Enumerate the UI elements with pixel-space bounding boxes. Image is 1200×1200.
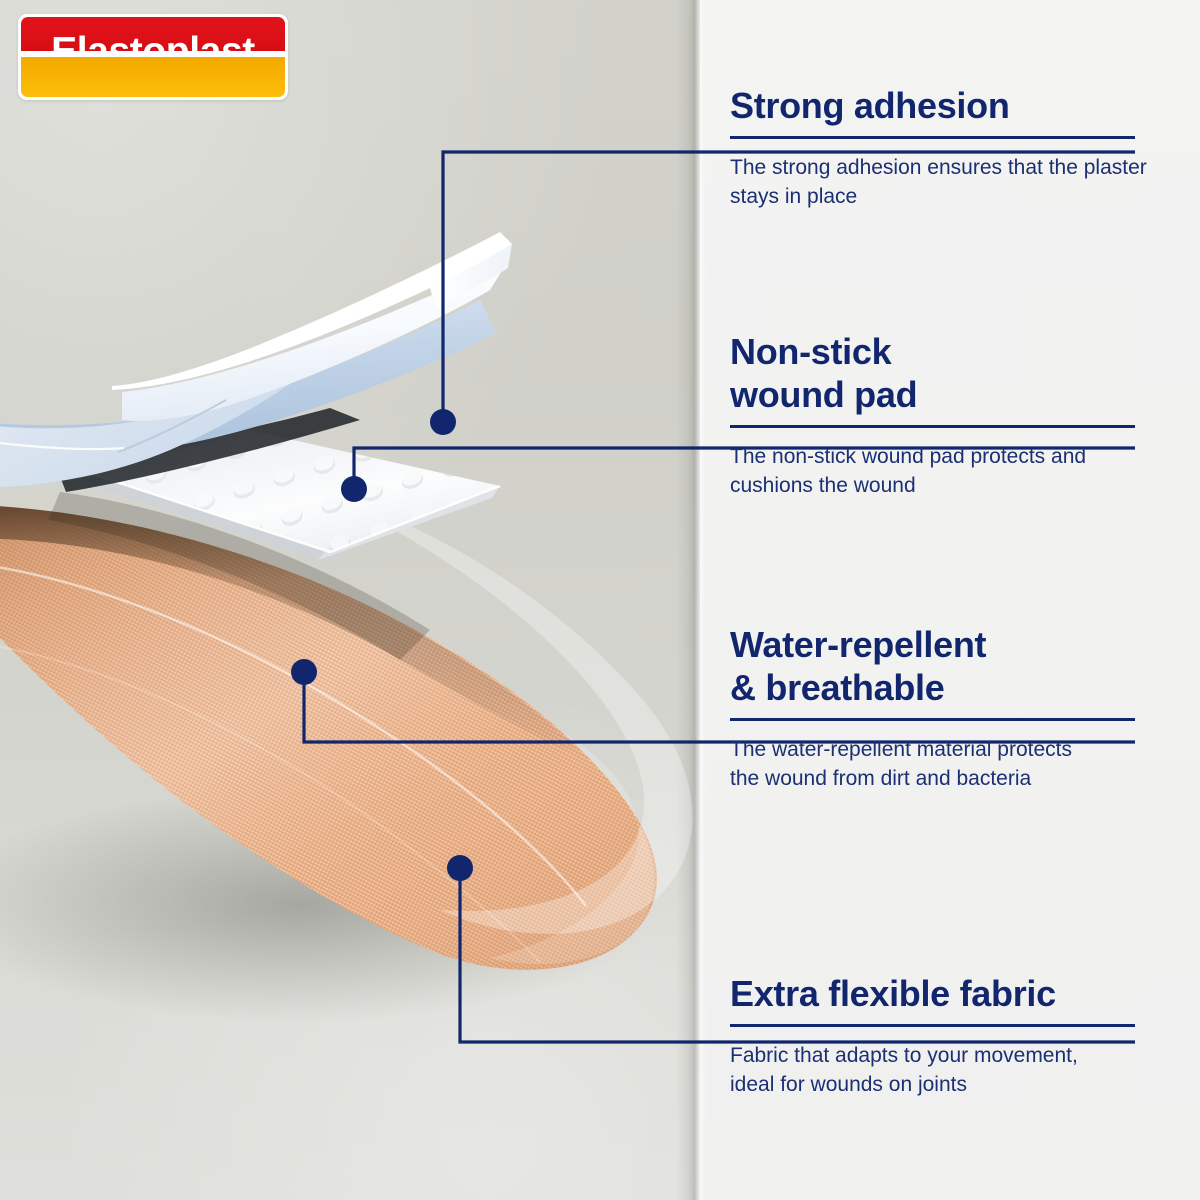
feature-rule-water-repellent (730, 718, 1135, 721)
feature-strong-adhesion: Strong adhesion The strong adhesion ensu… (730, 84, 1150, 211)
feature-non-stick-wound-pad: Non-stick wound pad The non-stick wound … (730, 330, 1150, 500)
feature-body-strong-adhesion: The strong adhesion ensures that the pla… (730, 153, 1150, 211)
brand-logo: Elastoplast (18, 14, 288, 100)
feature-title-water-repellent-line2: & breathable (730, 666, 1150, 709)
plaster-illustration (0, 0, 700, 1200)
feature-rule-strong-adhesion (730, 136, 1135, 139)
feature-title-water-repellent-line1: Water-repellent (730, 623, 1150, 666)
feature-title-non-stick-wound-pad-line1: Non-stick (730, 330, 1150, 373)
feature-title-strong-adhesion: Strong adhesion (730, 84, 1150, 127)
feature-rule-extra-flexible-fabric (730, 1024, 1135, 1027)
feature-body-non-stick-wound-pad: The non-stick wound pad protects and cus… (730, 442, 1150, 500)
feature-water-repellent: Water-repellent & breathable The water-r… (730, 623, 1150, 793)
infographic-canvas: Elastoplast Strong adhesion The strong a… (0, 0, 1200, 1200)
feature-extra-flexible-fabric: Extra flexible fabric Fabric that adapts… (730, 972, 1150, 1099)
logo-red-plate: Elastoplast (21, 17, 285, 97)
feature-title-non-stick-wound-pad-line2: wound pad (730, 373, 1150, 416)
feature-body-extra-flexible-fabric: Fabric that adapts to your movement, ide… (730, 1041, 1080, 1099)
feature-rule-non-stick-wound-pad (730, 425, 1135, 428)
logo-swoosh-gold (21, 57, 285, 97)
feature-body-water-repellent: The water-repellent material protects th… (730, 735, 1090, 793)
feature-title-extra-flexible-fabric: Extra flexible fabric (730, 972, 1150, 1015)
